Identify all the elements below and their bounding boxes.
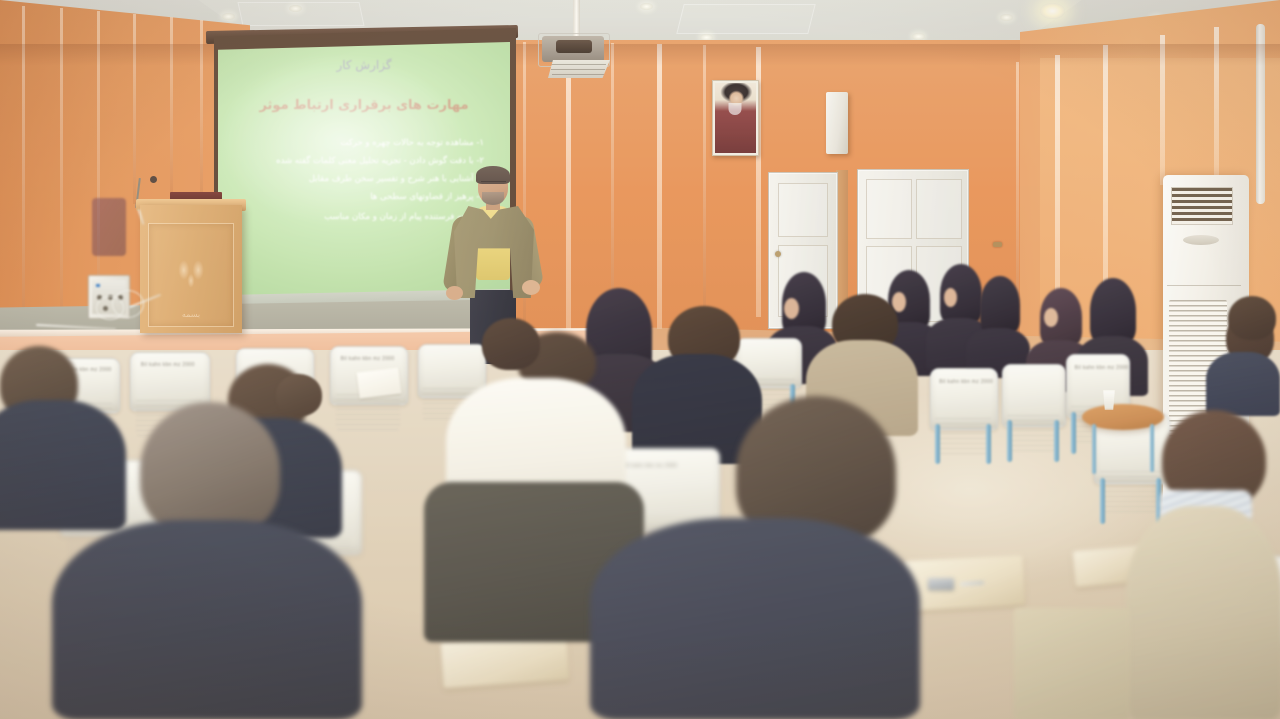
audience-head xyxy=(1228,296,1276,340)
wall-panel-seam xyxy=(566,42,571,332)
door-knob-icon[interactable] xyxy=(993,242,1002,247)
wooden-lectern: بسمه xyxy=(140,205,242,333)
chair-leg xyxy=(1007,420,1012,462)
audience-shoulders xyxy=(1206,352,1280,416)
plate-line xyxy=(551,69,605,70)
microphone-icon xyxy=(150,176,157,183)
downlight-icon xyxy=(640,3,653,10)
chair-ridges xyxy=(935,418,990,456)
chair-brand-text: Bil kahn kbn mz 2000 xyxy=(939,379,993,385)
audience-head-hijab xyxy=(980,276,1020,334)
ceiling-tile xyxy=(237,2,364,26)
shoulder-bag[interactable] xyxy=(1014,608,1130,719)
projector-lens-icon xyxy=(556,40,592,53)
table-leg xyxy=(1092,424,1096,474)
ac-logo xyxy=(1183,235,1219,245)
chair-ridges xyxy=(336,394,400,431)
audience-shoulders xyxy=(0,400,126,530)
chair-brand-text: Bil kahn kbn mz 2000 xyxy=(623,463,677,469)
mobile-phone[interactable] xyxy=(928,578,954,590)
wall-panel-seam xyxy=(703,45,706,325)
paper-sheet[interactable] xyxy=(357,368,402,399)
slide-bullet: ۲- با دقت گوش دادن - تجزیه تحلیل معنی کل… xyxy=(230,156,498,166)
table-leg xyxy=(1150,424,1154,472)
wall-mounted-speaker xyxy=(826,92,848,154)
audience-head-hijab xyxy=(1090,278,1136,344)
glasses-icon xyxy=(481,181,506,188)
photo-scene: گزارش کار مهارت های برقراری ارتباط موثر … xyxy=(0,0,1280,719)
wall-panel-seam xyxy=(657,44,662,329)
chair[interactable]: Bil kahn kbn mz 2000 xyxy=(930,368,996,464)
wall-top-shadow xyxy=(0,44,1280,66)
chair-leg xyxy=(986,424,991,464)
audience-face xyxy=(784,298,799,319)
chair-ridges xyxy=(1100,471,1162,515)
presenter-beard xyxy=(482,192,504,205)
audience-head xyxy=(140,402,280,538)
door-panel xyxy=(916,179,962,239)
portrait-image xyxy=(715,83,756,153)
audience-face xyxy=(1044,308,1058,327)
door-knob-icon[interactable] xyxy=(775,251,781,257)
chair[interactable] xyxy=(1002,364,1064,462)
audience-shoulders xyxy=(590,518,920,719)
stage-side-chair xyxy=(92,198,126,256)
downlight-icon xyxy=(222,13,235,20)
plate-line xyxy=(550,64,606,65)
audience-head xyxy=(482,318,540,370)
presenter-left-hand xyxy=(446,286,463,300)
wall-panel-seam xyxy=(133,14,136,204)
chair-leg xyxy=(1071,412,1076,454)
ac-seam xyxy=(1167,285,1241,286)
chair-brand-text: Bil kahn kbn mz 2000 xyxy=(341,356,395,362)
plate-line xyxy=(552,74,604,75)
audience-shoulders xyxy=(52,520,362,719)
slide-subtitle: مهارت های برقراری ارتباط موثر xyxy=(230,98,498,113)
slide-title: گزارش کار xyxy=(230,58,498,72)
downlight-bright-icon xyxy=(1040,3,1065,19)
chair-leg xyxy=(935,424,940,464)
audience-shoulders xyxy=(1126,506,1280,719)
downlight-icon xyxy=(912,33,925,40)
chair[interactable] xyxy=(1094,414,1168,524)
presenter-right-hand xyxy=(522,280,540,295)
chair-ridges xyxy=(1007,415,1059,454)
chair-brand-text: Bil kahn kbn mz 2000 xyxy=(141,362,195,368)
chair-leg xyxy=(1100,478,1105,524)
ceiling-tile xyxy=(676,4,815,34)
slide-bullet: ۱- مشاهده توجه به حالات چهره و حرکت xyxy=(230,138,498,148)
audience-head xyxy=(276,374,322,416)
door-panel xyxy=(778,183,828,237)
chair-leg xyxy=(1054,420,1059,462)
door-panel xyxy=(866,179,912,239)
chair-brand-text: Bil kahn kbn mz 2000 xyxy=(1075,365,1129,371)
podium-script-text: بسمه xyxy=(182,310,200,319)
ac-top-grille-icon xyxy=(1171,187,1233,225)
carved-emblem-icon xyxy=(171,252,211,292)
audience-face xyxy=(944,288,957,307)
projector-mount-plate xyxy=(548,60,610,78)
amplifier-led-icon xyxy=(96,284,100,287)
downlight-icon xyxy=(1000,14,1013,21)
framed-wall-portrait xyxy=(712,80,759,156)
portrait-beard xyxy=(728,103,741,115)
downlight-icon xyxy=(289,5,302,12)
